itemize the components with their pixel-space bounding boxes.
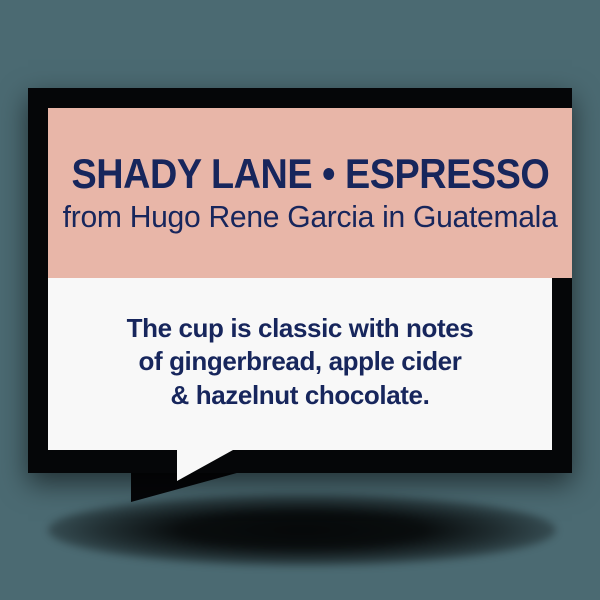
page-title: SHADY LANE • ESPRESSO	[71, 153, 549, 195]
card-body: The cup is classic with notes of gingerb…	[48, 278, 552, 450]
tasting-notes-text: The cup is classic with notes of gingerb…	[127, 312, 474, 417]
speech-bubble-tail-fill	[177, 450, 233, 481]
tasting-notes-line-1: The cup is classic with notes	[127, 312, 474, 346]
speech-bubble: SHADY LANE • ESPRESSO from Hugo Rene Gar…	[0, 0, 600, 600]
card-header: SHADY LANE • ESPRESSO from Hugo Rene Gar…	[48, 108, 572, 278]
tasting-notes-line-2: of gingerbread, apple cider	[127, 345, 474, 379]
producer-origin-subtitle: from Hugo Rene Garcia in Guatemala	[63, 201, 558, 234]
tasting-notes-line-3: & hazelnut chocolate.	[127, 379, 474, 413]
canvas: SHADY LANE • ESPRESSO from Hugo Rene Gar…	[0, 0, 600, 600]
